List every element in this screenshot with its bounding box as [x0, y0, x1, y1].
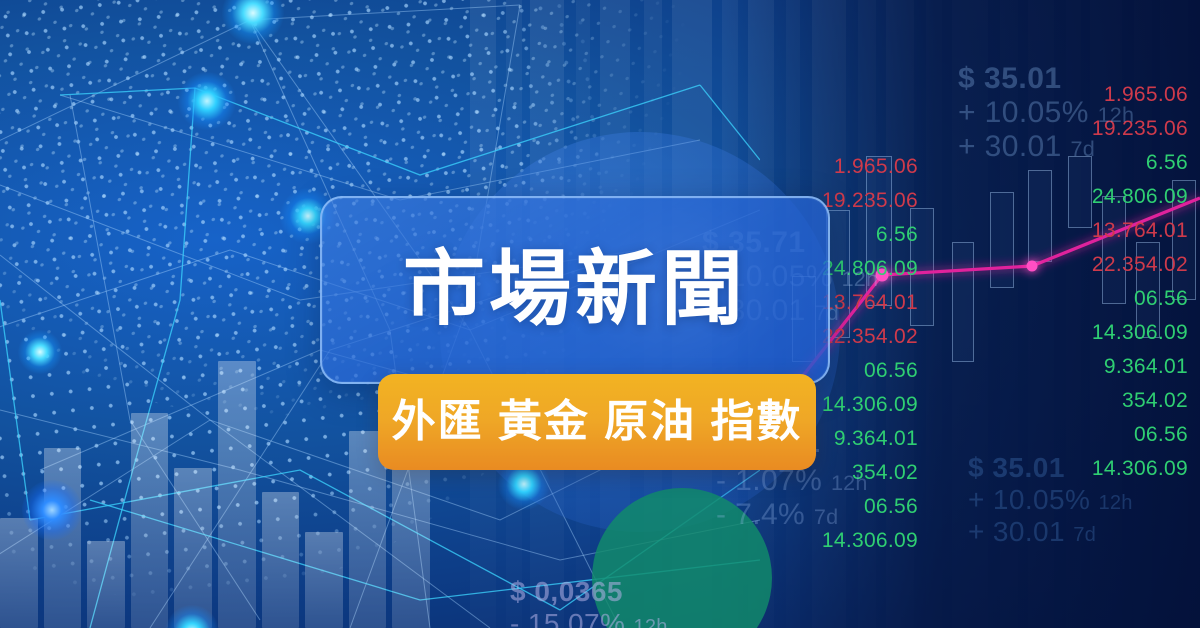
quote-bottom-right: $ 35.01 + 10.05% 12h + 30.01 7d: [968, 452, 1133, 548]
bar-chart-bar: [392, 460, 430, 628]
page-title: 市場新聞: [403, 249, 747, 331]
quote-price: $ 35.01: [968, 452, 1133, 484]
bar-chart-bar: [218, 361, 256, 628]
bar-chart-bar: [262, 492, 300, 628]
market-news-banner: 1.965.0619.235.066.5624.806.0913.764.012…: [0, 0, 1200, 628]
ticker-value: 9.364.01: [1008, 350, 1188, 384]
ticker-value: 24.806.09: [1008, 180, 1188, 214]
headline-card: 市場新聞: [320, 196, 830, 384]
ticker-value: 22.354.02: [1008, 248, 1188, 282]
ticker-value: 354.02: [1008, 384, 1188, 418]
glow-node-5: [22, 480, 82, 540]
ticker-value: 06.56: [1008, 418, 1188, 452]
bar-chart-bar: [131, 413, 169, 628]
quote-change-7d: + 30.01 7d: [968, 516, 1133, 548]
category-pill[interactable]: 外匯 黃金 原油 指數: [378, 374, 816, 470]
bar-chart-bar: [305, 532, 343, 628]
quote-bottom-center: $ 0,0365 - 15.07% 12h - 48.4% 7d: [510, 576, 668, 628]
bar-chart-bar: [0, 518, 38, 628]
glow-node-4: [18, 330, 62, 374]
ticker-value: 14.306.09: [1008, 316, 1188, 350]
quote-change-7d: - 7.4% 7d: [716, 498, 868, 532]
bar-chart-bar: [174, 468, 212, 628]
quote-price: $ 0,0365: [510, 576, 668, 608]
ticker-value: 06.56: [1008, 282, 1188, 316]
quote-top-right: $ 35.01 + 10.05% 12h + 30.01 7d: [958, 62, 1134, 164]
quote-change-12h: + 10.05% 12h: [958, 96, 1134, 130]
quote-change-12h: + 10.05% 12h: [968, 484, 1133, 516]
ticker-value: 1.965.06: [762, 150, 918, 184]
quote-change-7d: + 30.01 7d: [958, 130, 1134, 164]
quote-price: $ 35.01: [958, 62, 1134, 96]
bar-chart-bar: [87, 541, 125, 628]
category-pill-label: 外匯 黃金 原油 指數: [392, 400, 803, 444]
ticker-value: 13.764.01: [1008, 214, 1188, 248]
quote-change-12h: - 15.07% 12h: [510, 608, 668, 628]
glow-node-1: [178, 72, 236, 130]
